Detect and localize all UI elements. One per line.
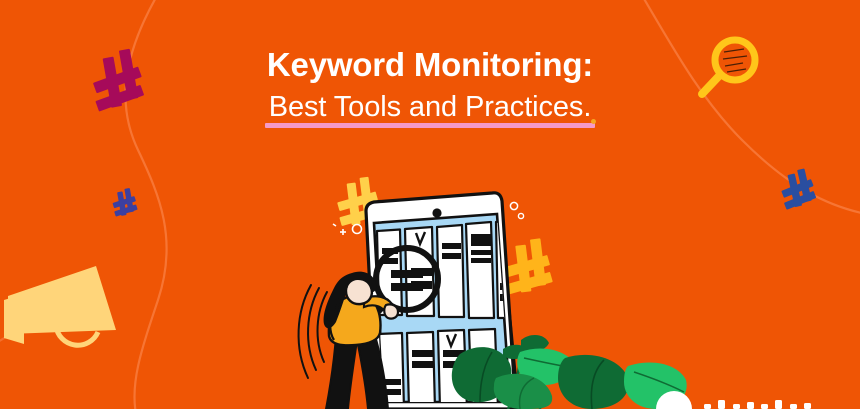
keyword-monitoring-banner: Keyword Monitoring: Best Tools and Pract…: [0, 0, 860, 409]
brand-logo[interactable]: [0, 0, 860, 409]
logo-wordmark: [704, 400, 811, 409]
logo-mark-icon: [656, 391, 692, 409]
